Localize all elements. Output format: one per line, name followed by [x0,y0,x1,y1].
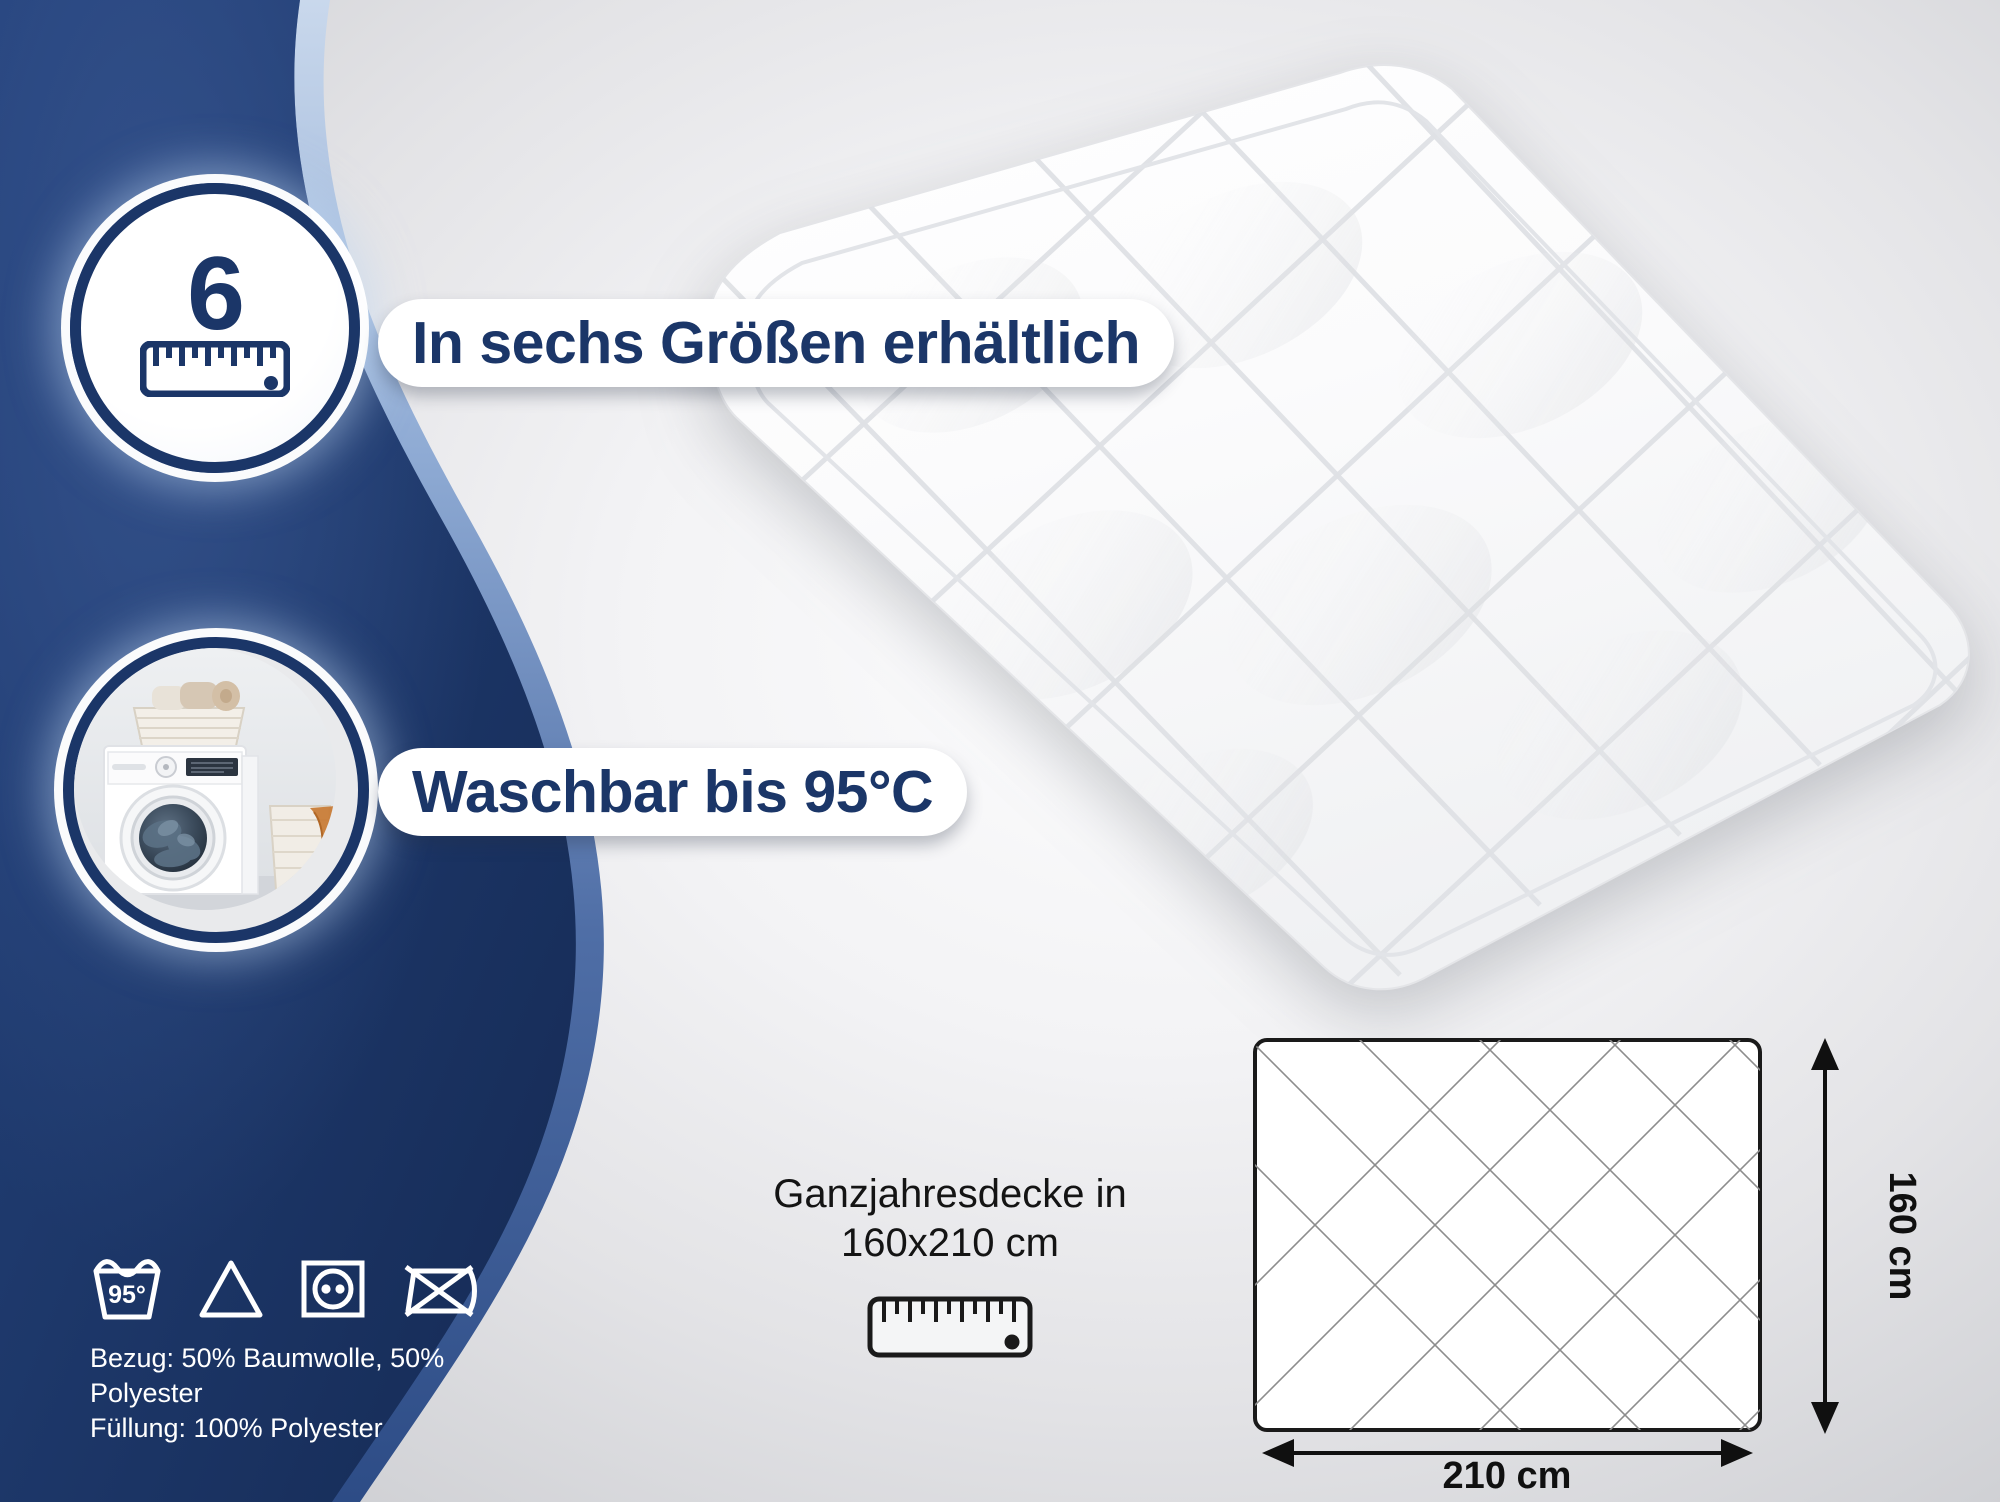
caption-line-2: 160x210 cm [700,1219,1200,1268]
care-symbols-block: 95° [90,1253,520,1446]
headline-pill-sizes: In sechs Größen erhältlich [378,299,1174,387]
dimension-diagram: 160 cm 210 cm [1200,1010,2000,1490]
care-line-2: Füllung: 100% Polyester [90,1411,520,1446]
marketing-banner: 6 [0,0,2000,1502]
height-dimension-arrow [1811,1038,1839,1434]
washing-machine-photo [74,648,336,910]
wash-tub-95-icon: 95° [90,1253,164,1323]
dimension-product-rect [1255,1040,1760,1430]
washing-machine-body [104,746,258,894]
headline-washable-label: Waschbar bis 95°C [412,758,933,826]
bleach-triangle-icon [196,1253,266,1323]
care-symbols-row: 95° [90,1253,520,1323]
badge-sizes-number: 6 [187,248,243,342]
width-dimension-label: 210 cm [1443,1455,1572,1490]
height-dimension-label: 160 cm [1881,1172,1923,1301]
badge-sizes: 6 [70,183,360,473]
headline-pill-washable: Waschbar bis 95°C [378,748,967,836]
caption-line-1: Ganzjahresdecke in [700,1170,1200,1219]
duvet-photo [640,45,2000,1030]
care-line-1: Bezug: 50% Baumwolle, 50% Polyester [90,1341,520,1411]
ruler-icon [140,341,290,402]
do-not-iron-icon [400,1253,478,1323]
care-text: Bezug: 50% Baumwolle, 50% Polyester Füll… [90,1341,520,1446]
tumble-dry-two-dots-icon [298,1253,368,1323]
caption-ruler-icon [700,1296,1200,1358]
badge-washing-machine [63,637,369,943]
headline-sizes-label: In sechs Größen erhältlich [412,309,1140,377]
wash-temp-label: 95° [108,1281,146,1309]
product-caption: Ganzjahresdecke in 160x210 cm [700,1170,1200,1358]
laundry-hamper [270,806,336,890]
